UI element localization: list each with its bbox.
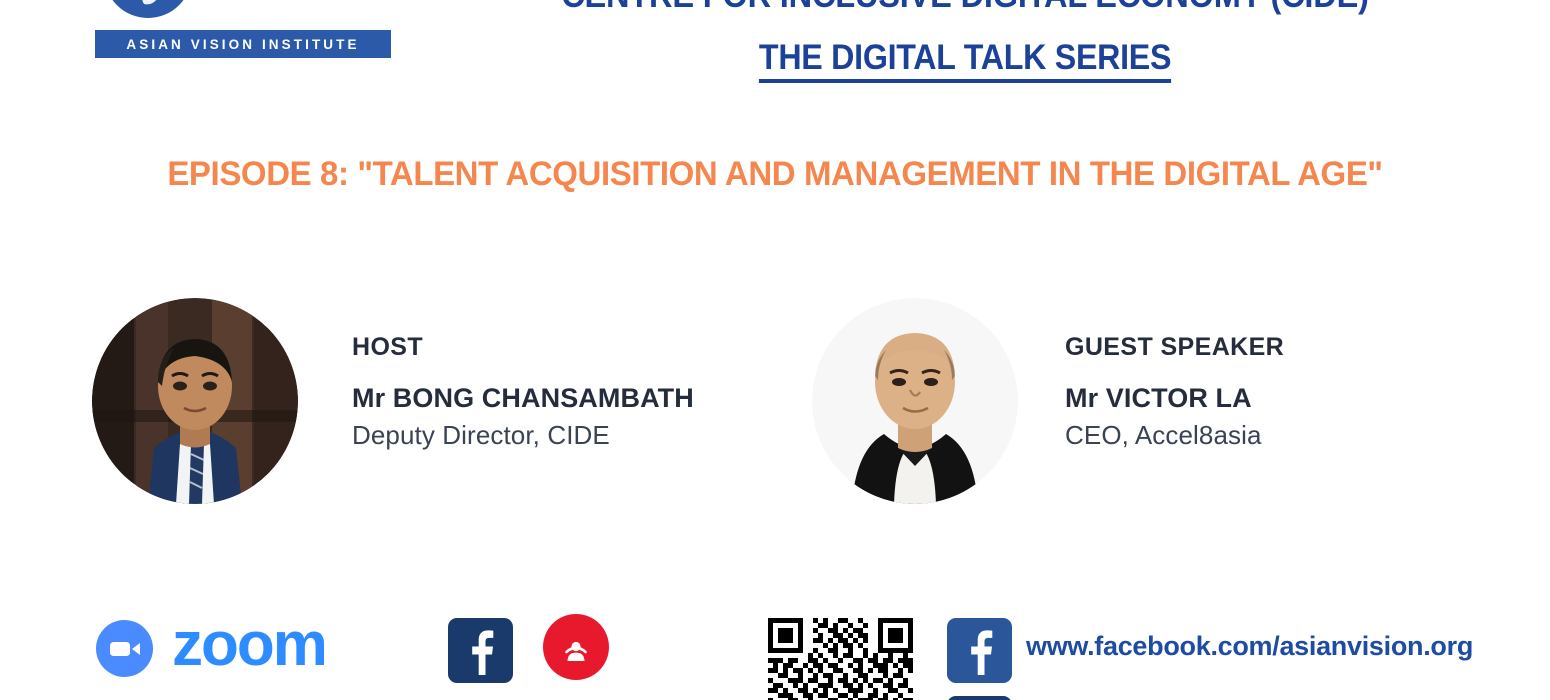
host-info: HOST Mr BONG CHANSAMBATH Deputy Director… [352, 333, 832, 451]
svg-text:AVI: AVI [188, 0, 326, 15]
guest-role-label: GUEST SPEAKER [1065, 333, 1545, 362]
series-name-text: THE DIGITAL TALK SERIES [759, 38, 1171, 83]
facebook-page-icon[interactable] [947, 618, 1012, 683]
facebook-icon[interactable] [448, 618, 513, 683]
zoom-wordmark[interactable]: zoom [172, 614, 326, 676]
guest-portrait-image [812, 298, 1018, 504]
series-name-heading: THE DIGITAL TALK SERIES [420, 38, 1510, 83]
facebook-f-glyph [466, 627, 496, 675]
guest-info: GUEST SPEAKER Mr VICTOR LA CEO, Accel8as… [1065, 333, 1545, 451]
guest-name: Mr VICTOR LA [1065, 383, 1545, 414]
avi-logo-banner-text: ASIAN VISION INSTITUTE [126, 37, 359, 52]
facebook-secondary-icon[interactable] [947, 696, 1012, 700]
avi-logo-mark: AVI [88, 0, 398, 28]
episode-title: EPISODE 8: "TALENT ACQUISITION AND MANAG… [23, 155, 1527, 194]
host-role-label: HOST [352, 333, 832, 362]
guest-portrait [812, 298, 1018, 504]
zoom-camera-icon[interactable] [96, 620, 153, 677]
host-title: Deputy Director, CIDE [352, 420, 832, 451]
centre-name-heading: CENTRE FOR INCLUSIVE DIGITAL ECONOMY (CI… [458, 0, 1472, 16]
facebook-live-icon[interactable] [543, 614, 609, 680]
host-portrait [92, 298, 298, 504]
host-portrait-image [92, 298, 298, 504]
zoom-camera-glyph [109, 639, 141, 659]
avi-logo: AVI ASIAN VISION INSTITUTE [88, 0, 398, 64]
facebook-live-glyph [554, 625, 598, 669]
guest-title: CEO, Accel8asia [1065, 420, 1545, 451]
facebook-f-glyph [965, 627, 995, 675]
qr-code[interactable] [768, 618, 913, 700]
facebook-url[interactable]: www.facebook.com/asianvision.org [1026, 631, 1473, 662]
avi-logo-banner: ASIAN VISION INSTITUTE [95, 30, 391, 58]
host-name: Mr BONG CHANSAMBATH [352, 383, 832, 414]
event-poster: AVI ASIAN VISION INSTITUTE CENTRE FOR IN… [0, 0, 1550, 700]
